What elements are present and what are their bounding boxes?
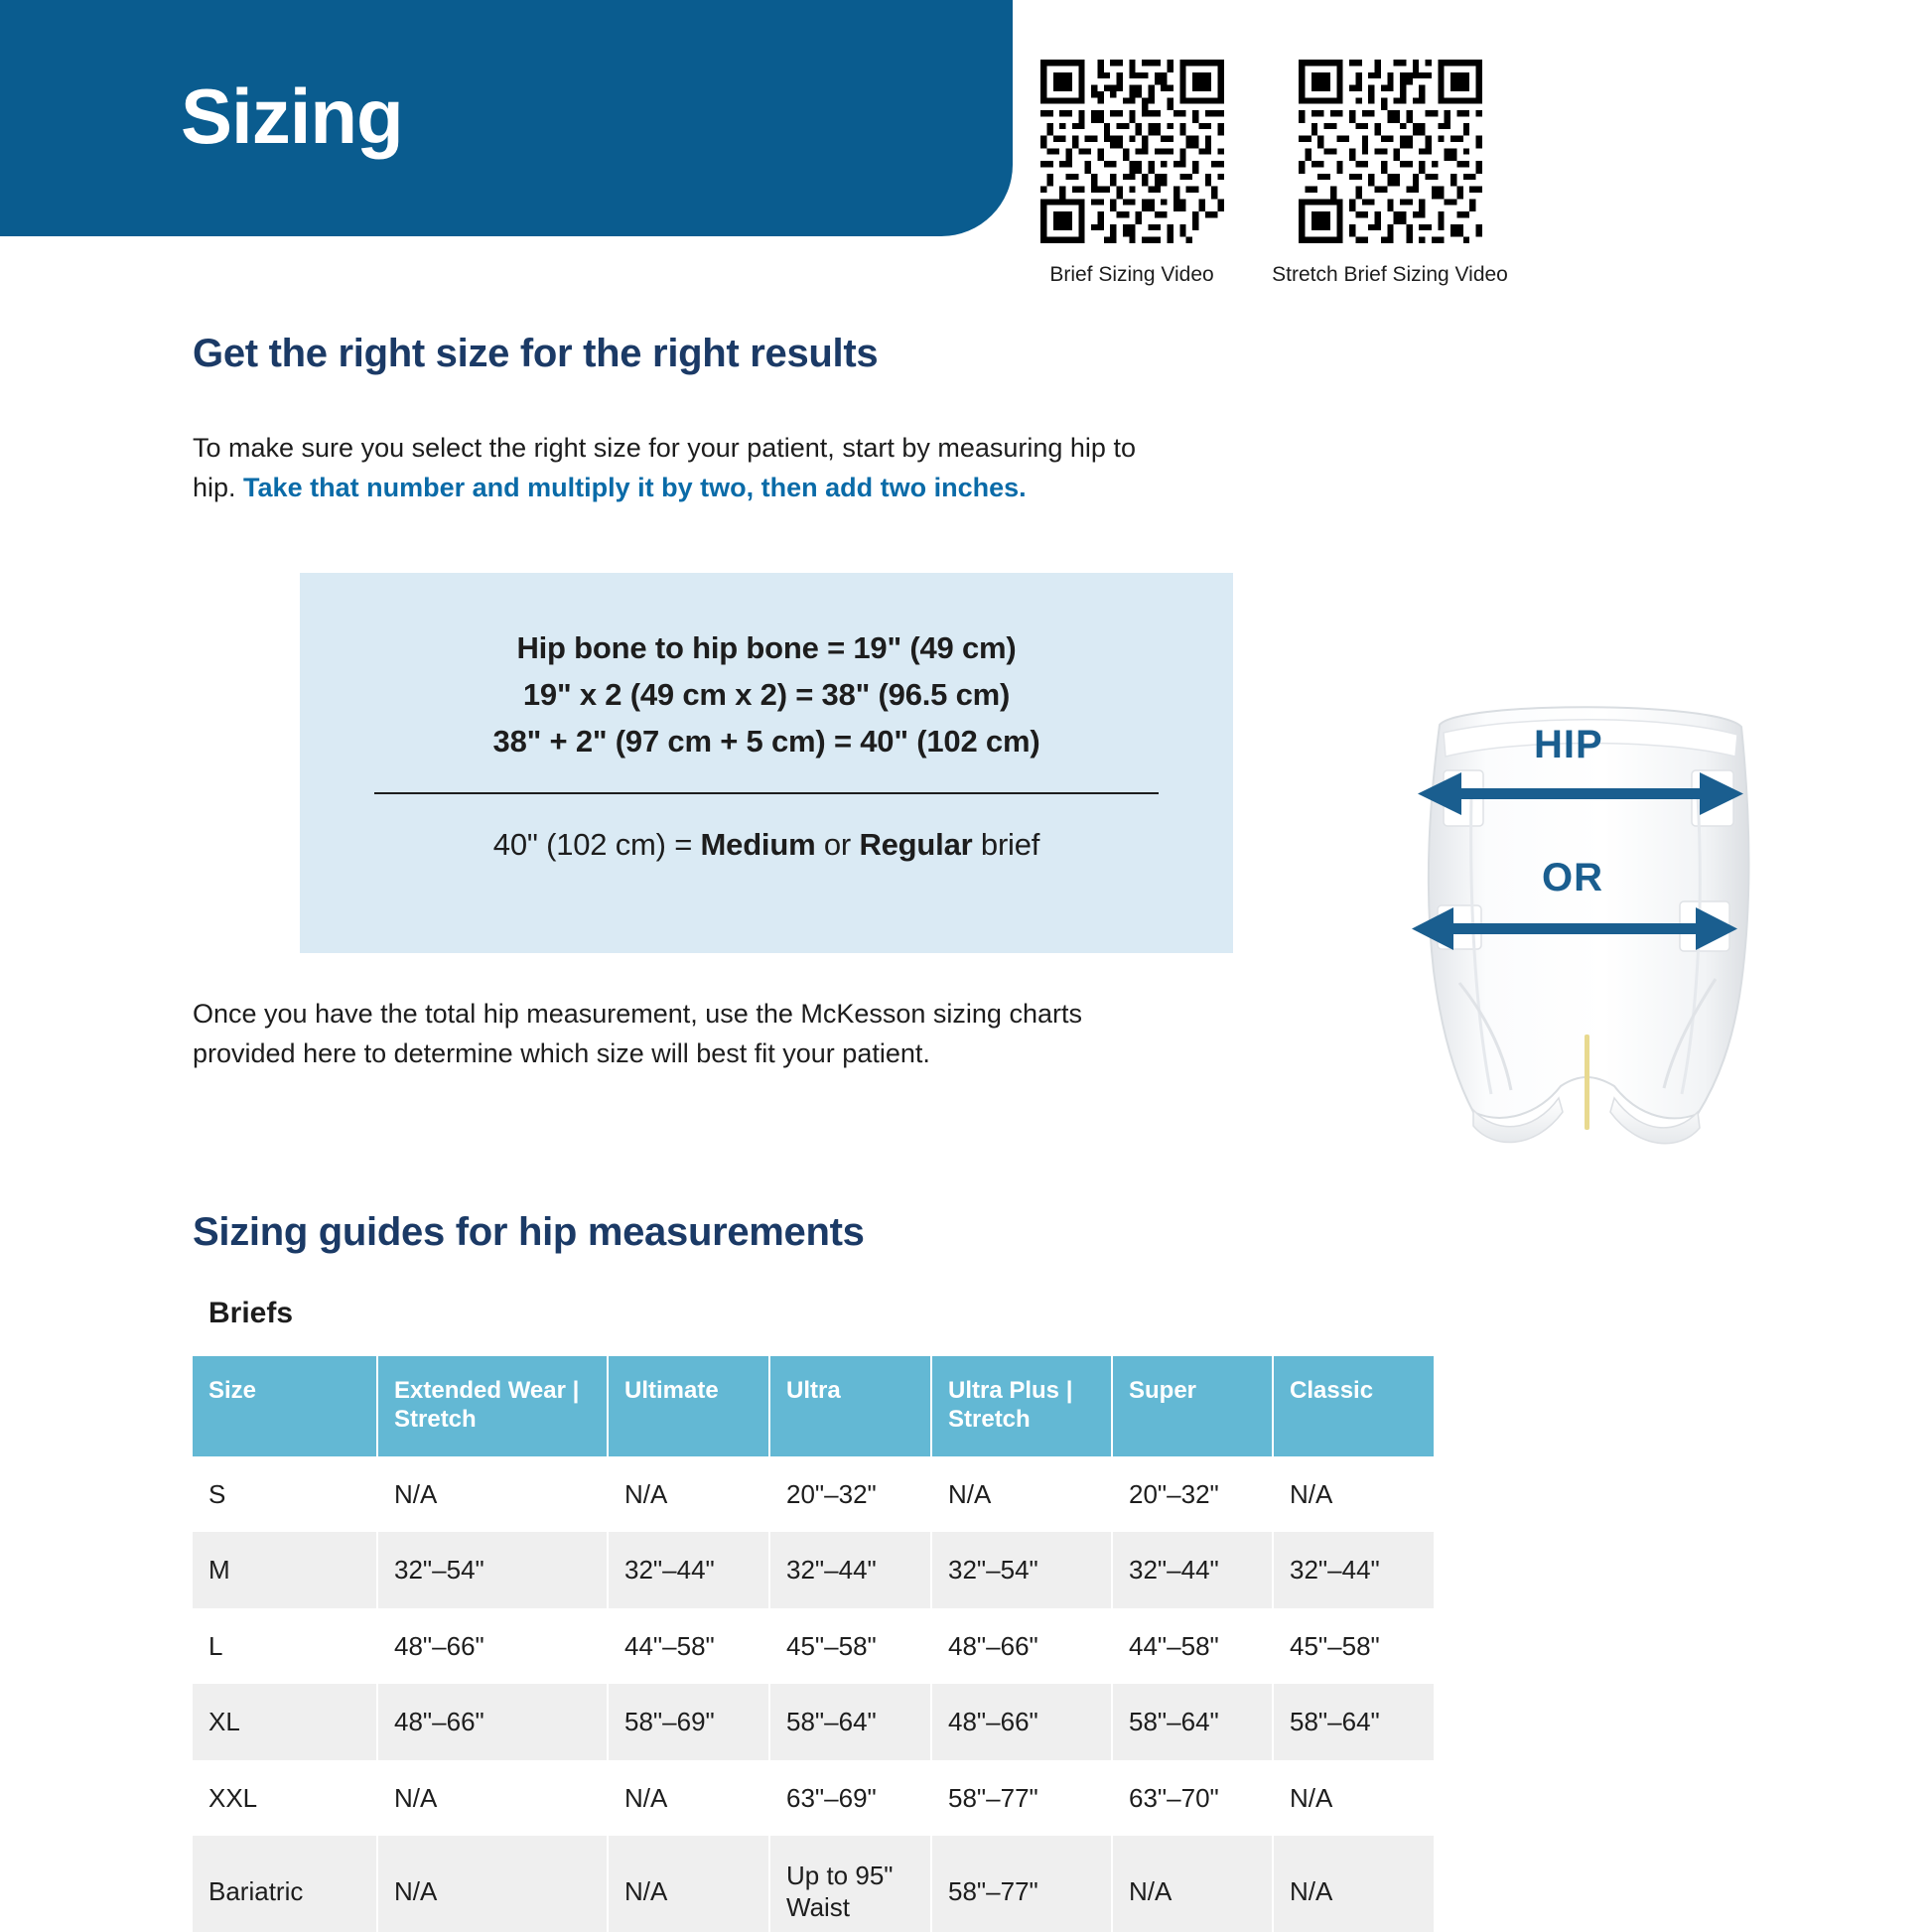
table-body: S N/A N/A 20"–32" N/A 20"–32" N/A M 32"–… — [193, 1456, 1434, 1932]
qr-caption-stretch-brief-sizing-video: Stretch Brief Sizing Video — [1261, 261, 1519, 288]
sizing-page: Sizing — [0, 0, 1932, 1932]
column-header-ultimate: Ultimate — [608, 1356, 769, 1456]
cell-value: N/A — [1112, 1836, 1273, 1932]
cell-value: 32"–54" — [377, 1532, 608, 1608]
after-measurement-paragraph: Once you have the total hip measurement,… — [193, 995, 1185, 1074]
qr-block-brief-sizing-video[interactable]: Brief Sizing Video — [1033, 60, 1231, 288]
cell-size: L — [193, 1608, 377, 1685]
cell-value: 48"–66" — [377, 1608, 608, 1685]
formula-line-1: Hip bone to hip bone = 19" (49 cm) — [300, 624, 1233, 671]
qr-block-stretch-brief-sizing-video[interactable]: Stretch Brief Sizing Video — [1291, 60, 1489, 288]
cell-value: 32"–44" — [769, 1532, 931, 1608]
cell-value: N/A — [1273, 1760, 1434, 1837]
table-label-briefs: Briefs — [208, 1297, 293, 1330]
cell-value: Up to 95" Waist — [769, 1836, 931, 1932]
arrow-label-hip: HIP — [1534, 723, 1603, 767]
column-header-super: Super — [1112, 1356, 1273, 1456]
cell-value: 58"–64" — [1273, 1684, 1434, 1760]
qr-code-icon[interactable] — [1040, 60, 1224, 243]
cell-value: 58"–77" — [931, 1760, 1112, 1837]
cell-size: Bariatric — [193, 1836, 377, 1932]
cell-value: 45"–58" — [1273, 1608, 1434, 1685]
cell-value: 58"–64" — [769, 1684, 931, 1760]
cell-value: 45"–58" — [769, 1608, 931, 1685]
cell-value: 58"–69" — [608, 1684, 769, 1760]
column-header-ultra-plus-stretch: Ultra Plus | Stretch — [931, 1356, 1112, 1456]
cell-value: 58"–64" — [1112, 1684, 1273, 1760]
cell-size: XL — [193, 1684, 377, 1760]
qr-code-icon[interactable] — [1299, 60, 1482, 243]
column-header-size: Size — [193, 1356, 377, 1456]
cell-value: 32"–44" — [608, 1532, 769, 1608]
cell-value: 20"–32" — [769, 1456, 931, 1533]
briefs-sizing-table: Size Extended Wear | Stretch Ultimate Ul… — [193, 1356, 1434, 1932]
formula-divider — [374, 792, 1159, 794]
cell-value: N/A — [608, 1456, 769, 1533]
result-size-regular: Regular — [859, 827, 972, 862]
cell-value: 63"–69" — [769, 1760, 931, 1837]
cell-value: N/A — [377, 1456, 608, 1533]
cell-value: 58"–77" — [931, 1836, 1112, 1932]
cell-value: 44"–58" — [1112, 1608, 1273, 1685]
result-size-medium: Medium — [701, 827, 816, 862]
cell-value: 48"–66" — [931, 1684, 1112, 1760]
table-row: XL 48"–66" 58"–69" 58"–64" 48"–66" 58"–6… — [193, 1684, 1434, 1760]
cell-size: S — [193, 1456, 377, 1533]
qr-caption-brief-sizing-video: Brief Sizing Video — [1033, 261, 1231, 288]
table-header-row: Size Extended Wear | Stretch Ultimate Ul… — [193, 1356, 1434, 1456]
arrow-label-or: OR — [1542, 856, 1603, 900]
result-conjunction: or — [815, 827, 859, 862]
result-prefix: 40" (102 cm) = — [493, 827, 701, 862]
page-header-banner — [0, 0, 1013, 236]
cell-size: XXL — [193, 1760, 377, 1837]
intro-paragraph: To make sure you select the right size f… — [193, 429, 1185, 508]
column-header-extended-wear-stretch: Extended Wear | Stretch — [377, 1356, 608, 1456]
formula-result-line: 40" (102 cm) = Medium or Regular brief — [300, 827, 1233, 863]
intro-emphasis-text: Take that number and multiply it by two,… — [243, 473, 1027, 502]
cell-value: N/A — [377, 1836, 608, 1932]
table-row: XXL N/A N/A 63"–69" 58"–77" 63"–70" N/A — [193, 1760, 1434, 1837]
table-row: M 32"–54" 32"–44" 32"–44" 32"–54" 32"–44… — [193, 1532, 1434, 1608]
cell-value: 32"–44" — [1273, 1532, 1434, 1608]
cell-value: N/A — [1273, 1456, 1434, 1533]
column-header-ultra: Ultra — [769, 1356, 931, 1456]
page-title: Sizing — [181, 77, 403, 155]
cell-value: N/A — [608, 1760, 769, 1837]
result-suffix: brief — [972, 827, 1039, 862]
section-heading-sizing-guides: Sizing guides for hip measurements — [193, 1210, 865, 1255]
cell-value: N/A — [608, 1836, 769, 1932]
formula-callout-box: Hip bone to hip bone = 19" (49 cm) 19" x… — [300, 573, 1233, 953]
cell-size: M — [193, 1532, 377, 1608]
cell-value: 48"–66" — [377, 1684, 608, 1760]
cell-value: 48"–66" — [931, 1608, 1112, 1685]
cell-value: 63"–70" — [1112, 1760, 1273, 1837]
section-heading-right-size: Get the right size for the right results — [193, 332, 878, 376]
cell-value: 32"–44" — [1112, 1532, 1273, 1608]
cell-value: 20"–32" — [1112, 1456, 1273, 1533]
table-row: S N/A N/A 20"–32" N/A 20"–32" N/A — [193, 1456, 1434, 1533]
column-header-classic: Classic — [1273, 1356, 1434, 1456]
cell-value: N/A — [931, 1456, 1112, 1533]
table-row: L 48"–66" 44"–58" 45"–58" 48"–66" 44"–58… — [193, 1608, 1434, 1685]
cell-value: N/A — [1273, 1836, 1434, 1932]
cell-value: 32"–54" — [931, 1532, 1112, 1608]
formula-line-3: 38" + 2" (97 cm + 5 cm) = 40" (102 cm) — [300, 718, 1233, 764]
cell-value: 44"–58" — [608, 1608, 769, 1685]
cell-value: N/A — [377, 1760, 608, 1837]
formula-line-2: 19" x 2 (49 cm x 2) = 38" (96.5 cm) — [300, 671, 1233, 718]
table-row: Bariatric N/A N/A Up to 95" Waist 58"–77… — [193, 1836, 1434, 1932]
